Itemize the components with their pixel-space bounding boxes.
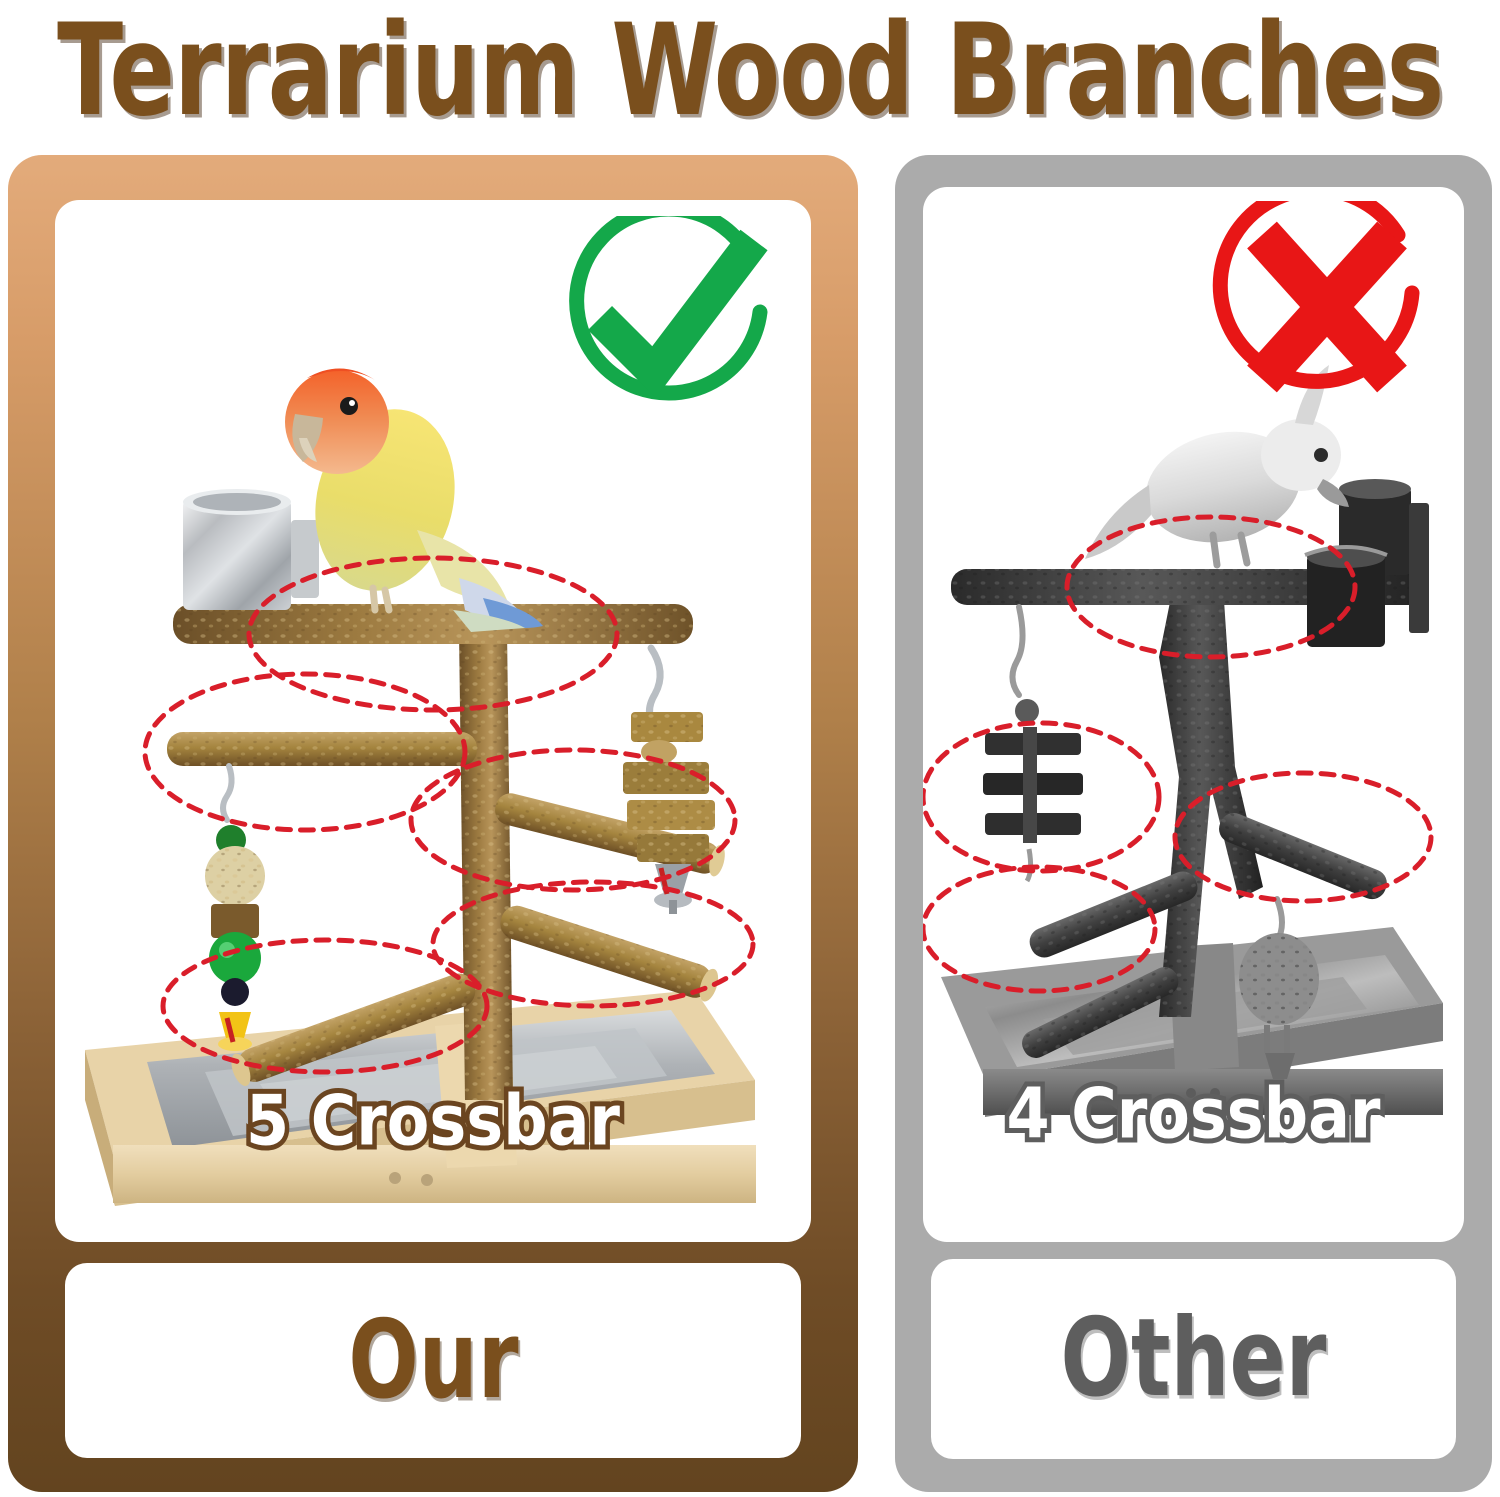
caption-strip-other: 4 Crossbar [895, 1083, 1492, 1145]
bead-bell-toy [205, 766, 265, 1051]
panel-other[interactable]: 4 Crossbar Other [895, 155, 1492, 1492]
caption-strip-our: 5 Crossbar [8, 1090, 858, 1152]
feed-cups-other [1305, 479, 1429, 647]
footer-box-our[interactable]: Our [65, 1263, 801, 1458]
panel-our[interactable]: 5 Crossbar Our [8, 155, 858, 1492]
feed-cup [183, 489, 319, 610]
crossbar-label-other: 4 Crossbar [1007, 1079, 1381, 1148]
annotation-ellipse-3 [1175, 773, 1431, 901]
page-title-bar: Terrarium Wood Branches [0, 0, 1500, 140]
footer-label-our: Our [348, 1307, 518, 1415]
comparison-panels: 5 Crossbar Our [0, 155, 1500, 1497]
bird-lovebird [285, 368, 543, 632]
footer-box-other[interactable]: Other [931, 1259, 1456, 1459]
crossbar-label-our: 5 Crossbar [246, 1086, 620, 1155]
ladder-chew-toy [983, 607, 1083, 881]
crossbar-lower-right [496, 902, 721, 1004]
page-title: Terrarium Wood Branches [57, 7, 1443, 134]
trunk-perch [459, 630, 513, 1100]
crossbar-left-mid [167, 732, 477, 766]
footer-label-other: Other [1061, 1305, 1327, 1413]
